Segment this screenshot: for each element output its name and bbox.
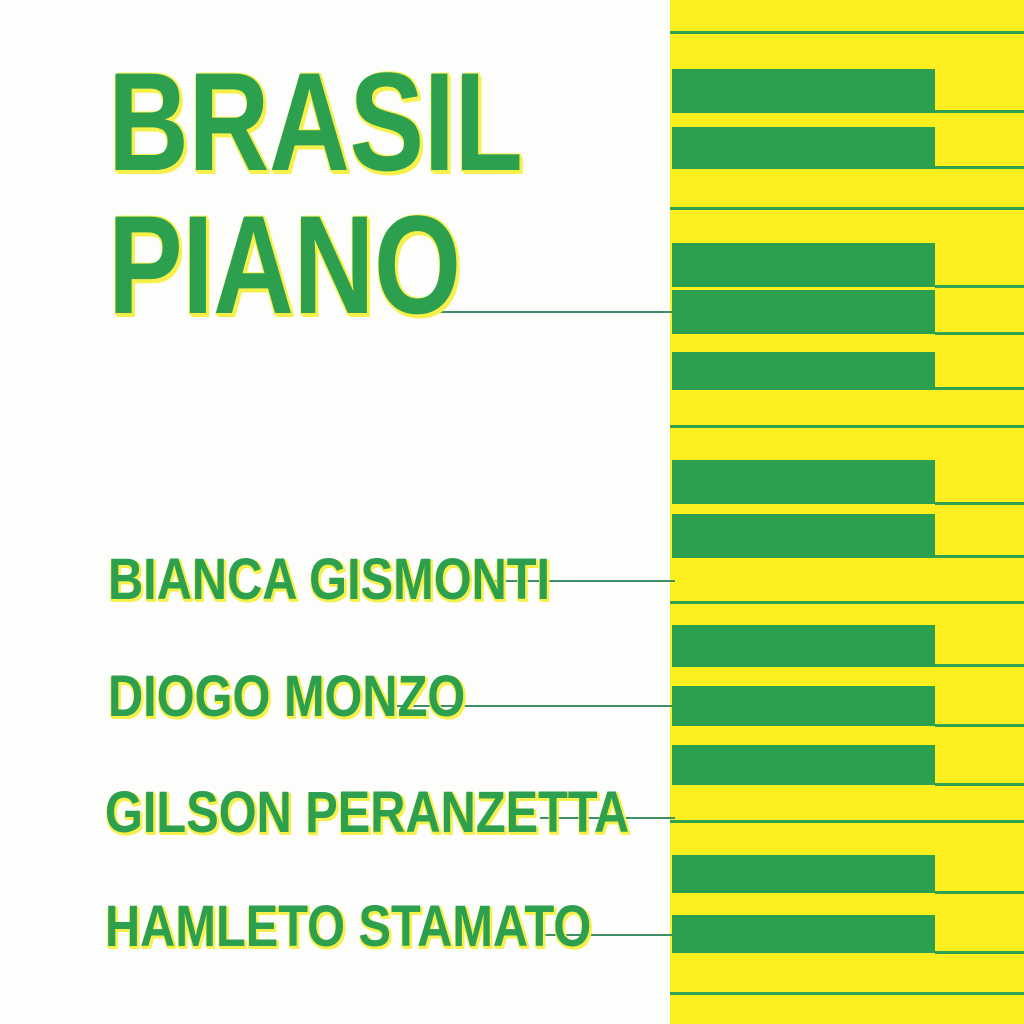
white-key-divider-short bbox=[935, 285, 1024, 288]
white-key-divider bbox=[670, 207, 1024, 210]
white-key-divider-short bbox=[935, 166, 1024, 169]
black-key bbox=[672, 625, 935, 667]
white-key-divider bbox=[670, 992, 1024, 995]
artist-name-diogo-monzo: DIOGO MONZO bbox=[108, 668, 465, 726]
black-key bbox=[672, 352, 935, 390]
black-key bbox=[672, 855, 935, 893]
white-key-divider-short bbox=[935, 664, 1024, 667]
black-key bbox=[672, 745, 935, 785]
black-key bbox=[672, 243, 935, 287]
white-key-divider bbox=[670, 31, 1024, 34]
artist-name-bianca-gismonti: BIANCA GISMONTI bbox=[108, 551, 550, 609]
white-key-divider-short bbox=[935, 555, 1024, 558]
white-key-divider-short bbox=[935, 783, 1024, 786]
black-key bbox=[672, 460, 935, 504]
white-key-divider-short bbox=[935, 951, 1024, 954]
white-key-divider bbox=[670, 820, 1024, 823]
white-key-divider-short bbox=[935, 724, 1024, 727]
white-key-divider-short bbox=[935, 891, 1024, 894]
artist-name-hamleto-stamato: HAMLETO STAMATO bbox=[105, 898, 591, 956]
white-key-divider-short bbox=[935, 502, 1024, 505]
white-key-divider-short bbox=[935, 332, 1024, 335]
piano-keyboard-graphic bbox=[670, 0, 1024, 1024]
album-cover-poster: BRASIL PIANO BIANCA GISMONTI DIOGO MONZO… bbox=[0, 0, 1024, 1024]
white-key-divider bbox=[670, 601, 1024, 604]
white-key-divider-short bbox=[935, 387, 1024, 390]
white-key-divider-short bbox=[935, 110, 1024, 113]
black-key bbox=[672, 686, 935, 726]
black-key bbox=[672, 290, 935, 334]
title-line-piano: PIANO bbox=[108, 205, 461, 325]
black-key bbox=[672, 915, 935, 953]
black-key bbox=[672, 69, 935, 113]
white-key-divider bbox=[670, 425, 1024, 428]
black-key bbox=[672, 127, 935, 169]
artist-name-gilson-peranzetta: GILSON PERANZETTA bbox=[105, 784, 629, 842]
black-key bbox=[672, 514, 935, 558]
title-line-brasil: BRASIL bbox=[108, 62, 522, 182]
